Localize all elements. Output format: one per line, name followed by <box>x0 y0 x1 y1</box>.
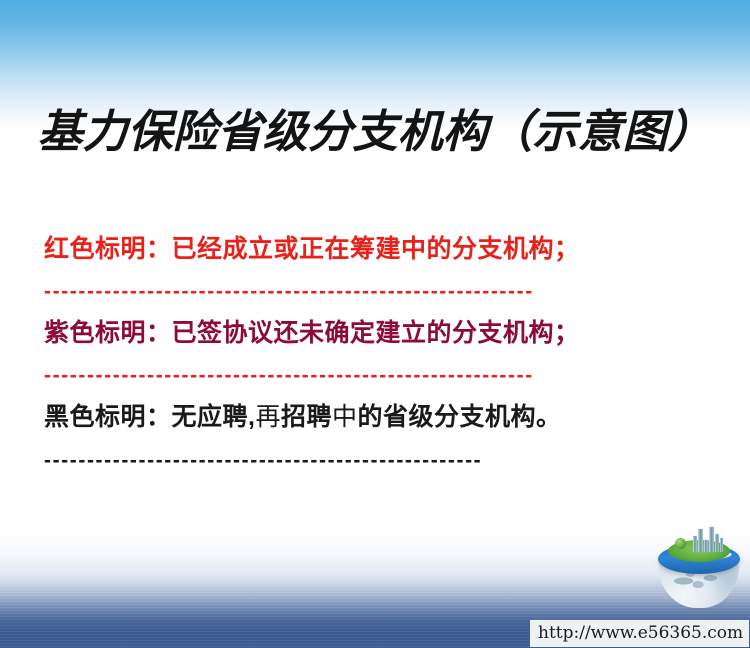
legend-row-black: 黑色标明：无应聘,再招聘中的省级分支机构。 <box>44 400 706 434</box>
divider-red-2: ----------------------------------------… <box>44 364 706 388</box>
earth-city-globe-icon <box>655 524 743 612</box>
spacer-5 <box>44 434 706 449</box>
legend-black-thin-1: 再 <box>255 403 281 431</box>
page-title: 基力保险省级分支机构（示意图） <box>0 103 750 161</box>
divider-red-1: ----------------------------------------… <box>44 280 706 304</box>
spacer-4 <box>44 388 706 400</box>
legend-black-label: 黑色标明： <box>44 403 172 431</box>
legend-black-thin-2: 中 <box>332 403 358 431</box>
divider-black: ----------------------------------------… <box>44 449 706 473</box>
city-skyline-icon <box>693 526 723 552</box>
spacer-2 <box>44 304 706 316</box>
spacer-1 <box>44 266 706 280</box>
legend-black-text-a: 无应聘, <box>172 403 256 431</box>
globe-drop-shadow <box>667 607 731 614</box>
url-watermark: http://www.e56365.com <box>530 620 749 647</box>
legend-row-red: 红色标明：已经成立或正在筹建中的分支机构； <box>44 232 706 266</box>
globe-wrapper <box>655 524 743 612</box>
tree-icon <box>675 538 686 549</box>
legend-block: 红色标明：已经成立或正在筹建中的分支机构； ------------------… <box>44 232 706 473</box>
legend-black-text-c: 的省级分支机构。 <box>358 403 562 431</box>
legend-black-text-b: 招聘 <box>281 403 332 431</box>
legend-row-purple: 紫色标明：已签协议还未确定建立的分支机构； <box>44 316 706 350</box>
spacer-3 <box>44 350 706 364</box>
slide-canvas: 基力保险省级分支机构（示意图） 红色标明：已经成立或正在筹建中的分支机构； --… <box>0 0 750 648</box>
